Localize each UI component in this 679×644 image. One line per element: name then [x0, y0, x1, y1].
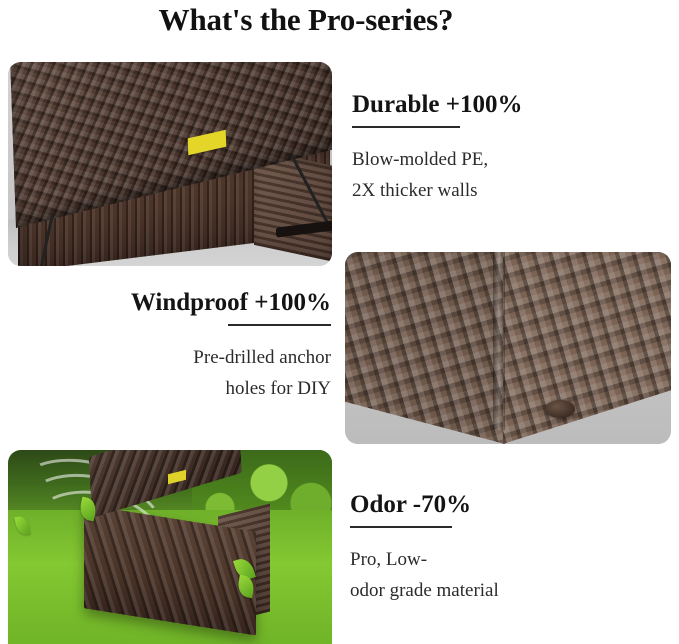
feature-windproof-body: Pre-drilled anchor holes for DIY [82, 342, 331, 404]
feature-durable-body-line-2: 2X thicker walls [352, 175, 523, 206]
deck-box-on-lawn-airflow-photo [8, 450, 332, 644]
feature-windproof-underline [228, 324, 331, 326]
feature-windproof: Windproof +100% Pre-drilled anchor holes… [82, 290, 331, 404]
feature-durable-body-line-1: Blow-molded PE, [352, 144, 523, 175]
feature-odor-underline [350, 526, 452, 528]
anchor-foot [545, 400, 575, 418]
feature-durable: Durable +100% Blow-molded PE, 2X thicker… [352, 92, 523, 206]
feature-odor-body: Pro, Low- odor grade material [350, 544, 499, 606]
feature-windproof-body-line-1: Pre-drilled anchor [82, 342, 331, 373]
feature-durable-body: Blow-molded PE, 2X thicker walls [352, 144, 523, 206]
wicker-corner-closeup-photo [345, 252, 671, 444]
feature-durable-underline [352, 126, 460, 128]
feature-odor-body-line-2: odor grade material [350, 575, 499, 606]
feature-odor-headline: Odor -70% [350, 492, 499, 517]
feature-durable-headline: Durable +100% [352, 92, 523, 117]
feature-odor: Odor -70% Pro, Low- odor grade material [350, 492, 499, 606]
corner-edge [493, 252, 505, 430]
feature-windproof-headline: Windproof +100% [82, 290, 331, 315]
feature-odor-body-line-1: Pro, Low- [350, 544, 499, 575]
feature-windproof-body-line-2: holes for DIY [82, 373, 331, 404]
page-title: What's the Pro-series? [0, 2, 612, 38]
deck-box-open-lid-photo [8, 62, 332, 266]
